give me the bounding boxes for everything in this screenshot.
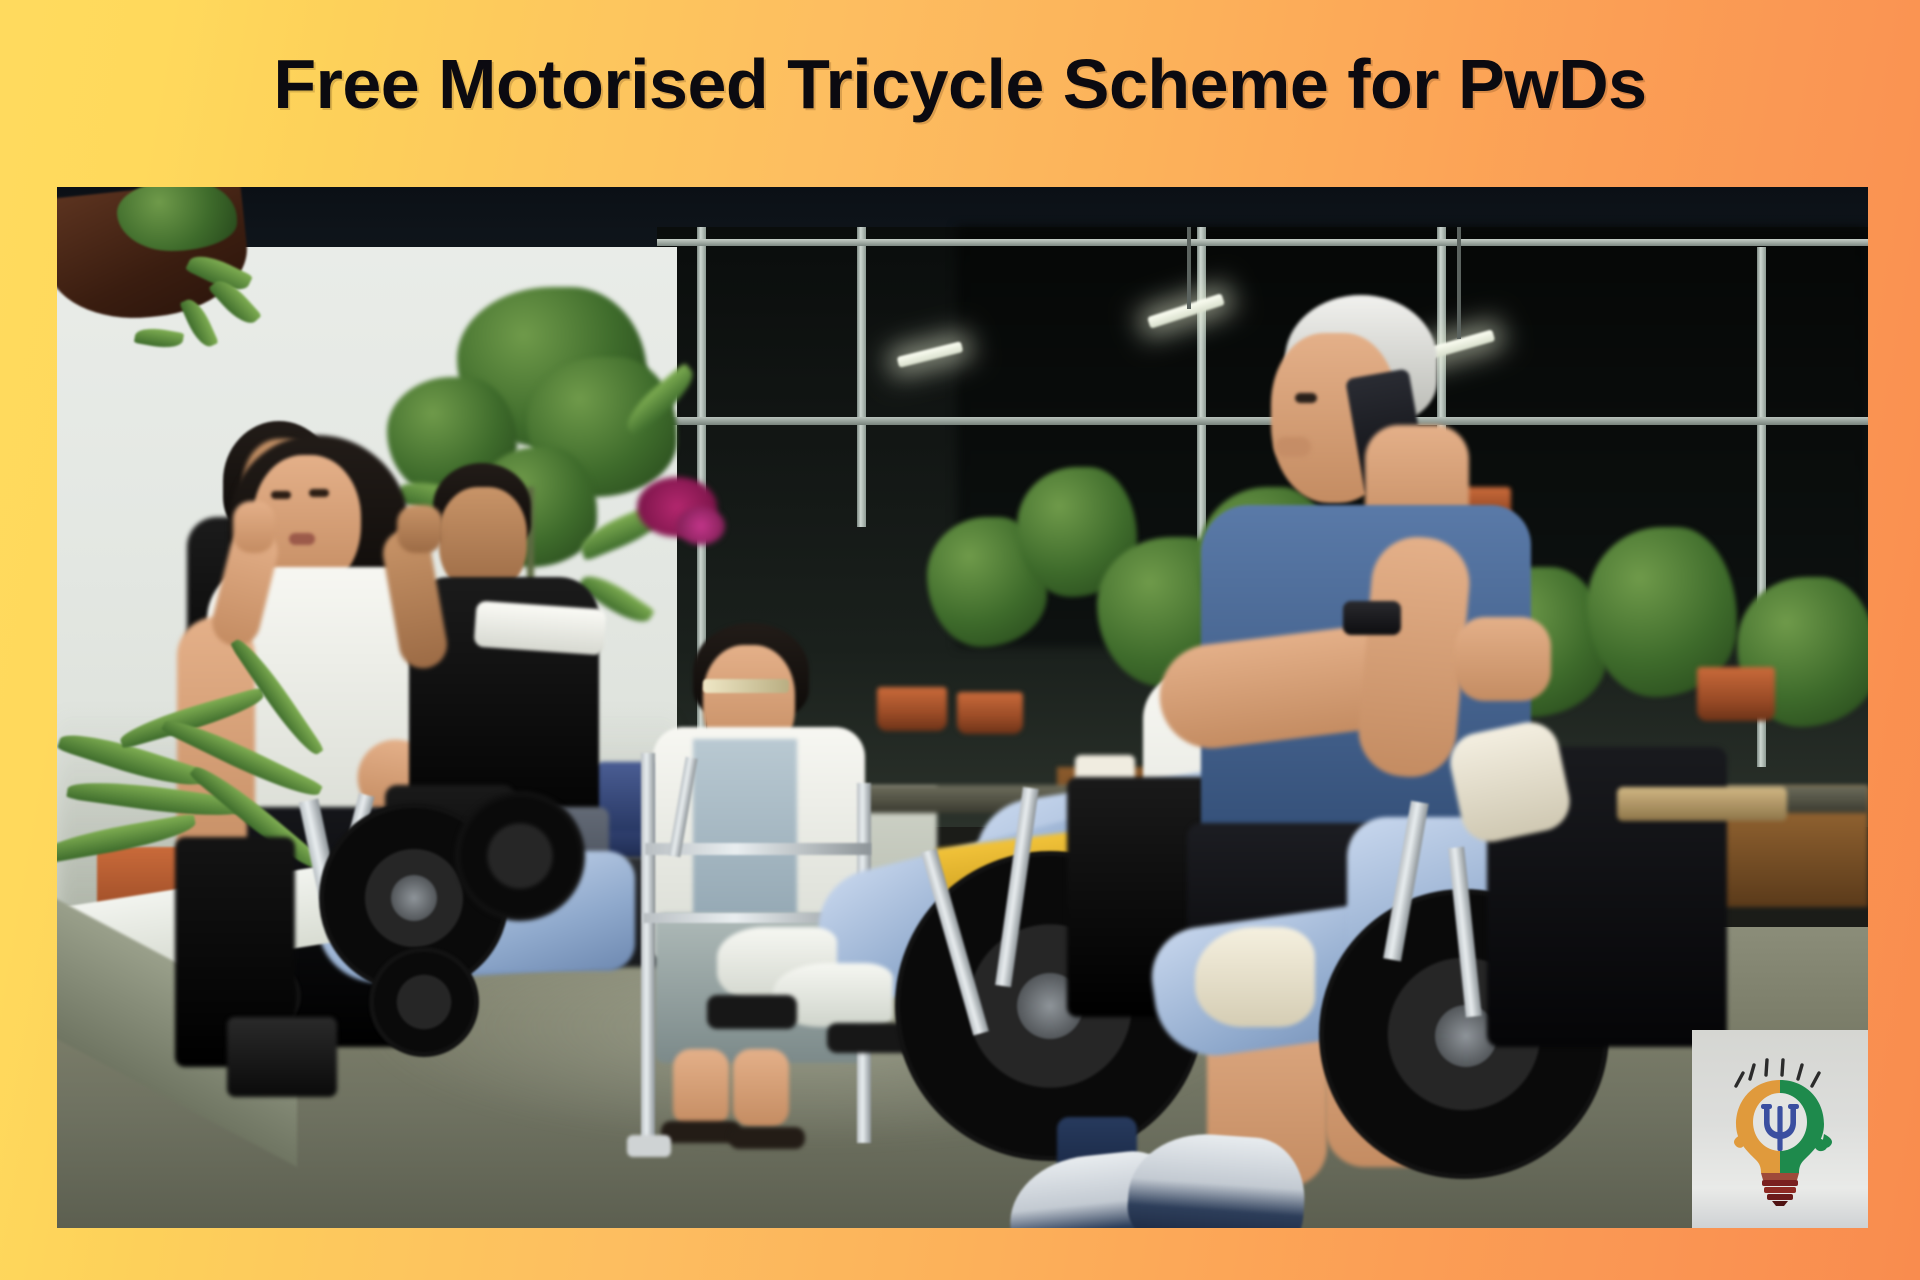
- organisation-logo-badge: [1692, 1030, 1868, 1228]
- wood-bench: [1617, 787, 1787, 821]
- eyeglasses: [703, 679, 789, 693]
- flower-pot: [957, 692, 1023, 734]
- wheelchair-footrest: [227, 1017, 337, 1097]
- light-hanger: [1187, 227, 1191, 309]
- woman-eye: [271, 491, 291, 499]
- woman-mouth: [289, 533, 315, 545]
- orchid-bloom: [677, 507, 725, 545]
- woman-hand: [233, 501, 275, 553]
- seated-woman-top: [693, 739, 797, 929]
- flower-pot: [1697, 667, 1775, 721]
- hanging-plant-leaves: [117, 187, 237, 251]
- flip-flop: [707, 995, 797, 1029]
- wheelchair-wheel: [455, 791, 585, 921]
- older-man-eye: [1295, 393, 1317, 403]
- psychology-lightbulb-icon: [1714, 1056, 1846, 1206]
- seated-woman-leg: [673, 1049, 729, 1127]
- seated-woman-leg: [733, 1049, 789, 1127]
- page-title: Free Motorised Tricycle Scheme for PwDs: [0, 36, 1920, 132]
- walker-leg: [641, 753, 655, 1153]
- scene-photo: [57, 187, 1868, 1228]
- walker-foot: [627, 1135, 671, 1157]
- arm-cast: [474, 601, 607, 656]
- wheelchair-hub: [391, 875, 437, 921]
- older-man-hand: [1455, 617, 1551, 701]
- window-mullion: [657, 417, 1868, 425]
- window-mullion: [857, 227, 866, 527]
- woman-eye: [309, 489, 329, 497]
- older-man-nose: [1275, 437, 1311, 457]
- young-man-hand: [397, 505, 443, 553]
- wheelchair-caster: [369, 947, 479, 1057]
- cushion: [1195, 927, 1315, 1027]
- wristwatch: [1343, 601, 1401, 635]
- sandal: [729, 1127, 805, 1149]
- flower-pot: [877, 687, 947, 731]
- window-mullion: [657, 239, 1868, 246]
- light-hanger: [1457, 227, 1461, 339]
